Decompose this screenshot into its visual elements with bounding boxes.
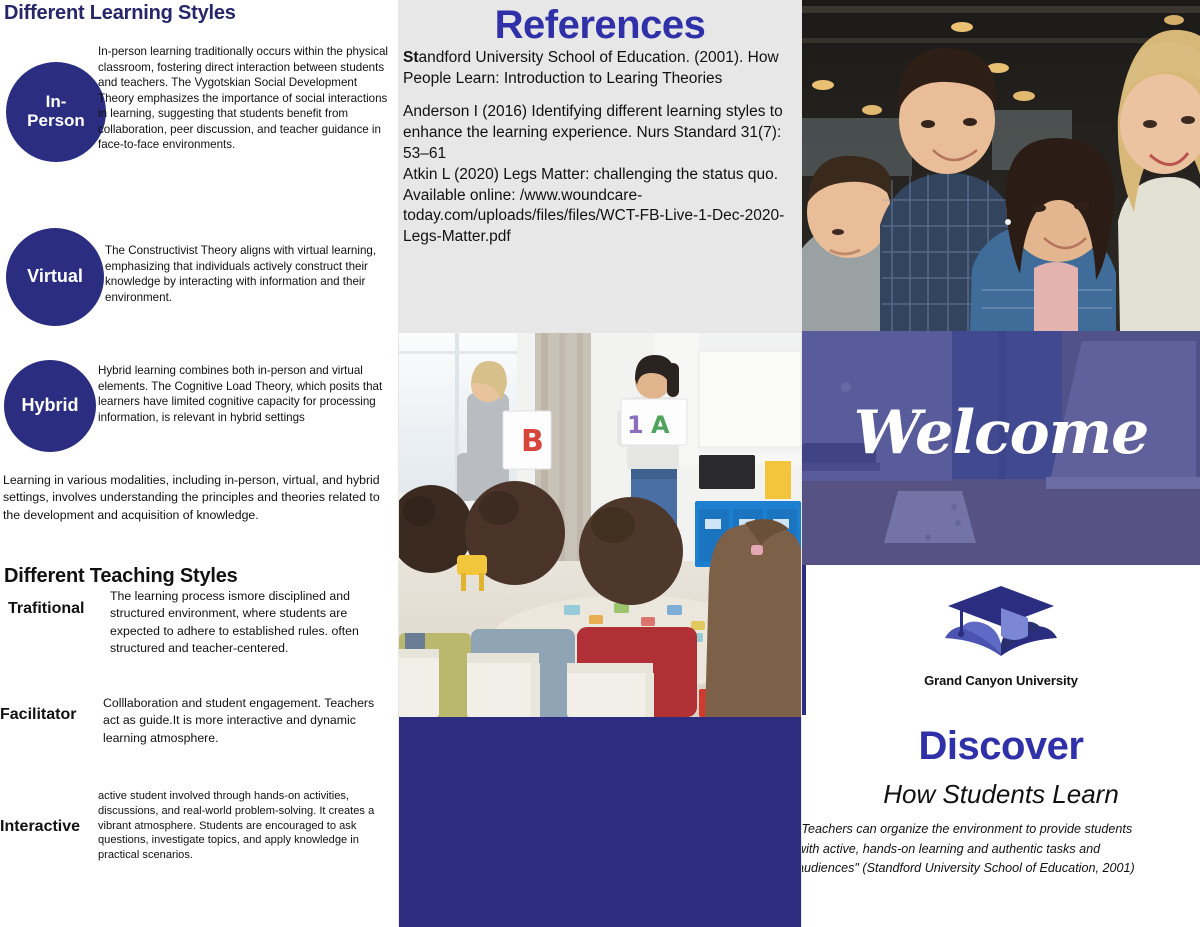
students-photo-illustration xyxy=(802,0,1200,331)
reference-item: Anderson I (2016) Identifying different … xyxy=(398,102,802,165)
badge-virtual-label: Virtual xyxy=(27,267,83,287)
graduation-cap-book-icon xyxy=(936,578,1066,664)
pull-quote-line: with active, hands-on learning and authe… xyxy=(802,840,1200,860)
students-photo xyxy=(802,0,1200,331)
classroom-photo: B 1 A xyxy=(399,333,801,717)
text-in-person: In-person learning traditionally occurs … xyxy=(98,44,394,153)
references-panel: References Standford University School o… xyxy=(398,0,802,333)
pull-quote-line: audiences" (Standford University School … xyxy=(802,859,1200,879)
reference-text: Atkin L (2020) Legs Matter: challenging … xyxy=(403,166,784,246)
teaching-style-text-interactive: active student involved through hands-on… xyxy=(98,789,391,863)
badge-hybrid: Hybrid xyxy=(4,360,96,452)
gcu-logo-name: Grand Canyon University xyxy=(802,673,1200,688)
badge-in-person-line1: In- xyxy=(46,92,67,111)
gcu-logo-block: Grand Canyon University xyxy=(802,578,1200,688)
text-modalities-summary: Learning in various modalities, includin… xyxy=(3,472,391,524)
teaching-style-label-traditional: Trafitional xyxy=(8,600,84,618)
text-hybrid: Hybrid learning combines both in-person … xyxy=(98,363,394,425)
svg-text:B: B xyxy=(521,424,544,459)
teaching-style-label-interactive: Interactive xyxy=(0,818,80,836)
teaching-style-text-traditional: The learning process ismore disciplined … xyxy=(110,588,395,657)
welcome-heading: Welcome xyxy=(802,403,1200,463)
text-virtual: The Constructivist Theory aligns with vi… xyxy=(105,243,393,305)
left-panel: Different Learning Styles In- Person In-… xyxy=(0,0,398,927)
classroom-photo-illustration: B 1 A xyxy=(399,333,801,717)
right-panel: Welcome Grand Canyon University Discover… xyxy=(802,0,1200,927)
teaching-style-text-facilitator: Colllaboration and student engagement. T… xyxy=(103,695,393,747)
svg-text:A: A xyxy=(651,411,670,439)
brochure-page: Different Learning Styles In- Person In-… xyxy=(0,0,1200,927)
subheading-how-students-learn: How Students Learn xyxy=(802,780,1200,809)
reference-text: Anderson I (2016) Identifying different … xyxy=(403,103,783,162)
reference-bold-prefix: St xyxy=(403,49,419,66)
heading-different-teaching-styles: Different Teaching Styles xyxy=(0,563,394,588)
teaching-style-label-facilitator: Facilitator xyxy=(0,706,76,724)
welcome-panel: Welcome xyxy=(802,331,1200,565)
reference-text: andford University School of Education. … xyxy=(403,49,779,87)
reference-item: Standford University School of Education… xyxy=(398,48,802,89)
badge-in-person-label: In- Person xyxy=(27,93,85,130)
pull-quote-line: "Teachers can organize the environment t… xyxy=(802,820,1200,840)
badge-in-person-line2: Person xyxy=(27,111,85,130)
svg-text:1: 1 xyxy=(627,411,644,439)
badge-in-person: In- Person xyxy=(6,62,106,162)
heading-different-learning-styles: Different Learning Styles xyxy=(0,0,398,25)
pull-quote: "Teachers can organize the environment t… xyxy=(802,820,1200,879)
middle-panel: References Standford University School o… xyxy=(398,0,802,927)
blue-color-block xyxy=(399,717,801,927)
badge-virtual: Virtual xyxy=(6,228,104,326)
references-title: References xyxy=(398,0,802,48)
reference-item: Atkin L (2020) Legs Matter: challenging … xyxy=(398,165,802,248)
badge-hybrid-label: Hybrid xyxy=(21,396,78,416)
discover-heading: Discover xyxy=(802,725,1200,767)
